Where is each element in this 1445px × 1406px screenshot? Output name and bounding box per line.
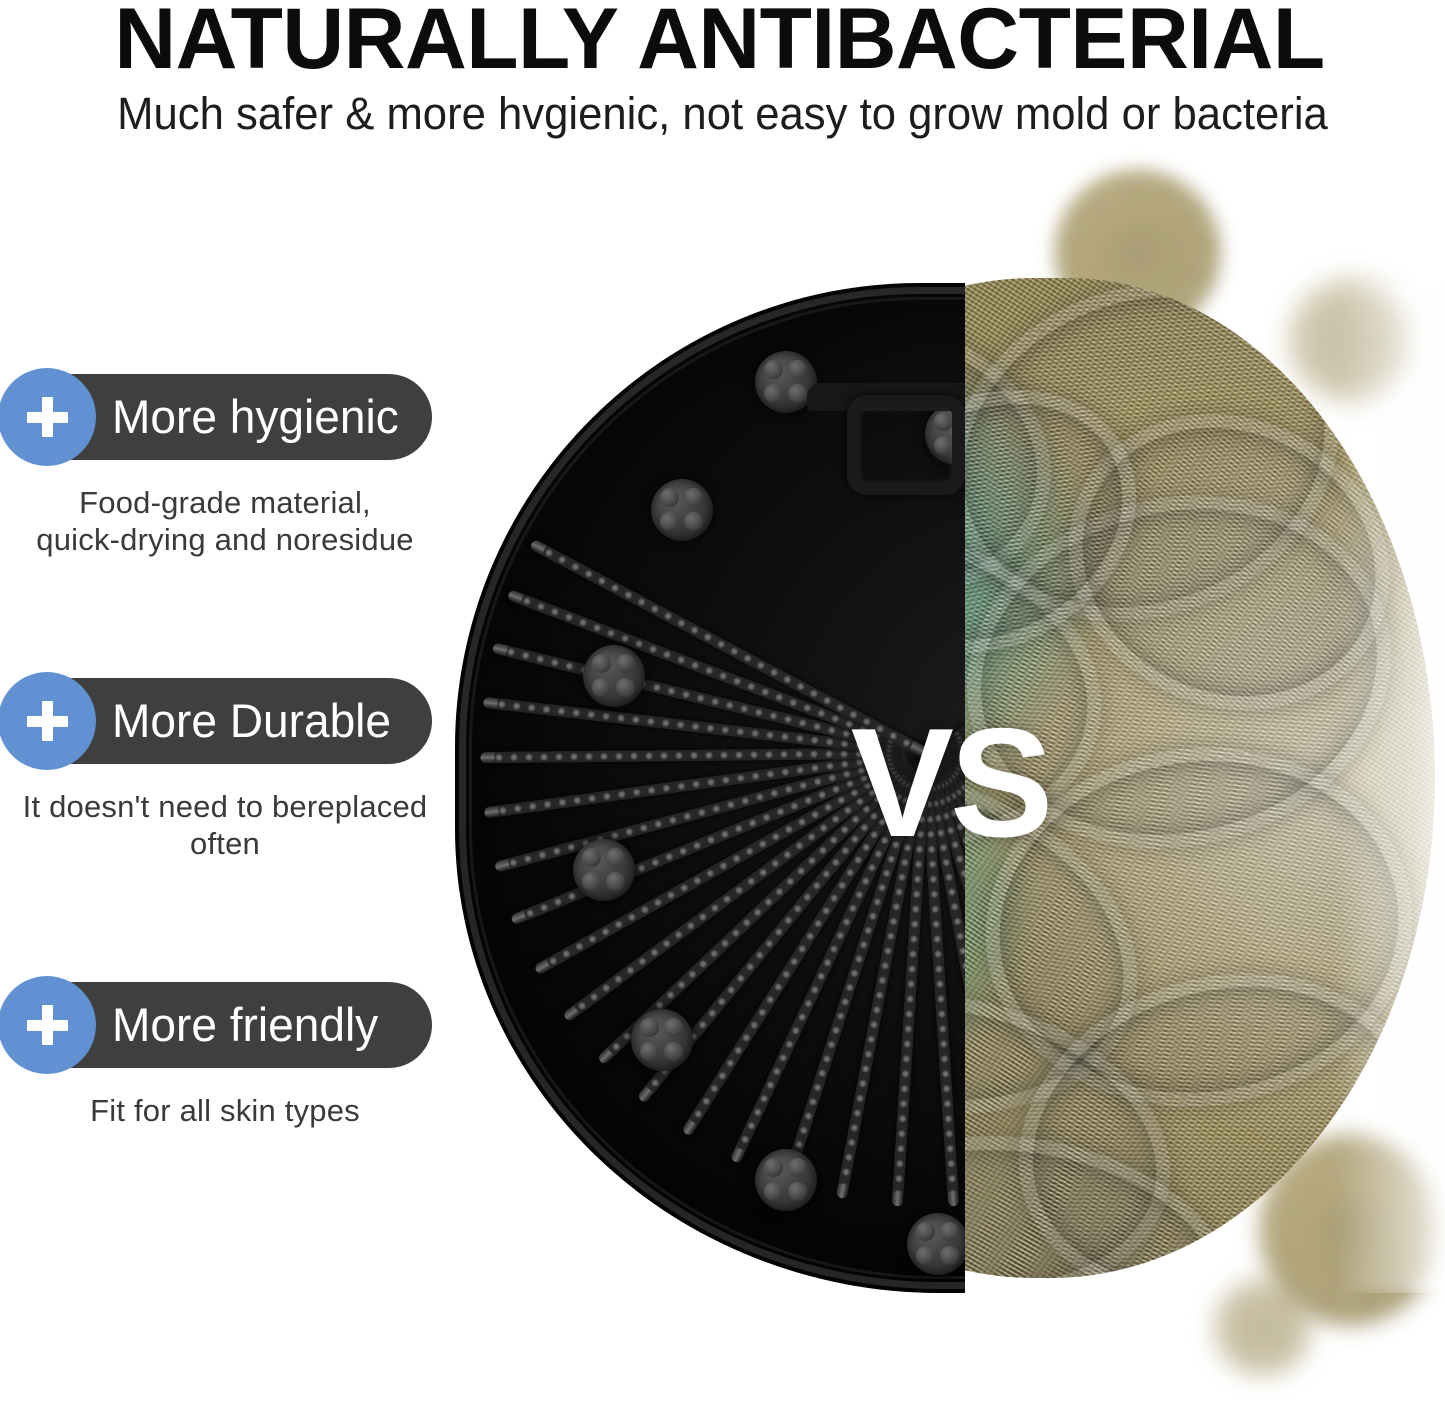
feature-badge-more-hygienic[interactable]: More hygienic [6, 374, 432, 460]
suction-nub [583, 645, 645, 707]
plus-icon [0, 672, 96, 770]
feature-badge-more-friendly[interactable]: More friendly [6, 982, 432, 1068]
feature-badge-label: More hygienic [112, 391, 399, 443]
feature-badge-more-durable[interactable]: More Durable [6, 678, 432, 764]
feature-caption-line-2: quick-drying and noresidue [0, 521, 450, 558]
feature-caption-line-1: Food-grade material, [0, 484, 450, 521]
feature-caption: Food-grade material, quick-drying and no… [0, 484, 450, 558]
feature-badge-label: More Durable [112, 695, 391, 747]
plus-icon [0, 368, 96, 466]
plus-icon [0, 976, 96, 1074]
feature-item-more-hygienic: More hygienic Food-grade material, quick… [0, 374, 450, 558]
feature-caption-line-1: Fit for all skin types [0, 1092, 450, 1129]
suction-nub [651, 479, 713, 541]
feature-caption-line-2: often [0, 825, 450, 862]
feature-item-more-friendly: More friendly Fit for all skin types [0, 982, 450, 1129]
feature-badge-label: More friendly [112, 999, 378, 1051]
vs-label: VS [455, 705, 1445, 860]
germ-particle-icon [1215, 1280, 1310, 1375]
suction-nub [631, 1009, 693, 1071]
feature-caption: Fit for all skin types [0, 1092, 450, 1129]
feature-item-more-durable: More Durable It doesn't need to bereplac… [0, 678, 450, 862]
feature-caption-line-1: It doesn't need to bereplaced [0, 788, 450, 825]
suction-nub [907, 1213, 965, 1275]
suction-nub [755, 1149, 817, 1211]
feature-caption: It doesn't need to bereplaced often [0, 788, 450, 862]
product-comparison-image: VS [455, 175, 1445, 1406]
hang-loop-hole [847, 395, 965, 495]
feature-list: More hygienic Food-grade material, quick… [0, 0, 450, 1406]
